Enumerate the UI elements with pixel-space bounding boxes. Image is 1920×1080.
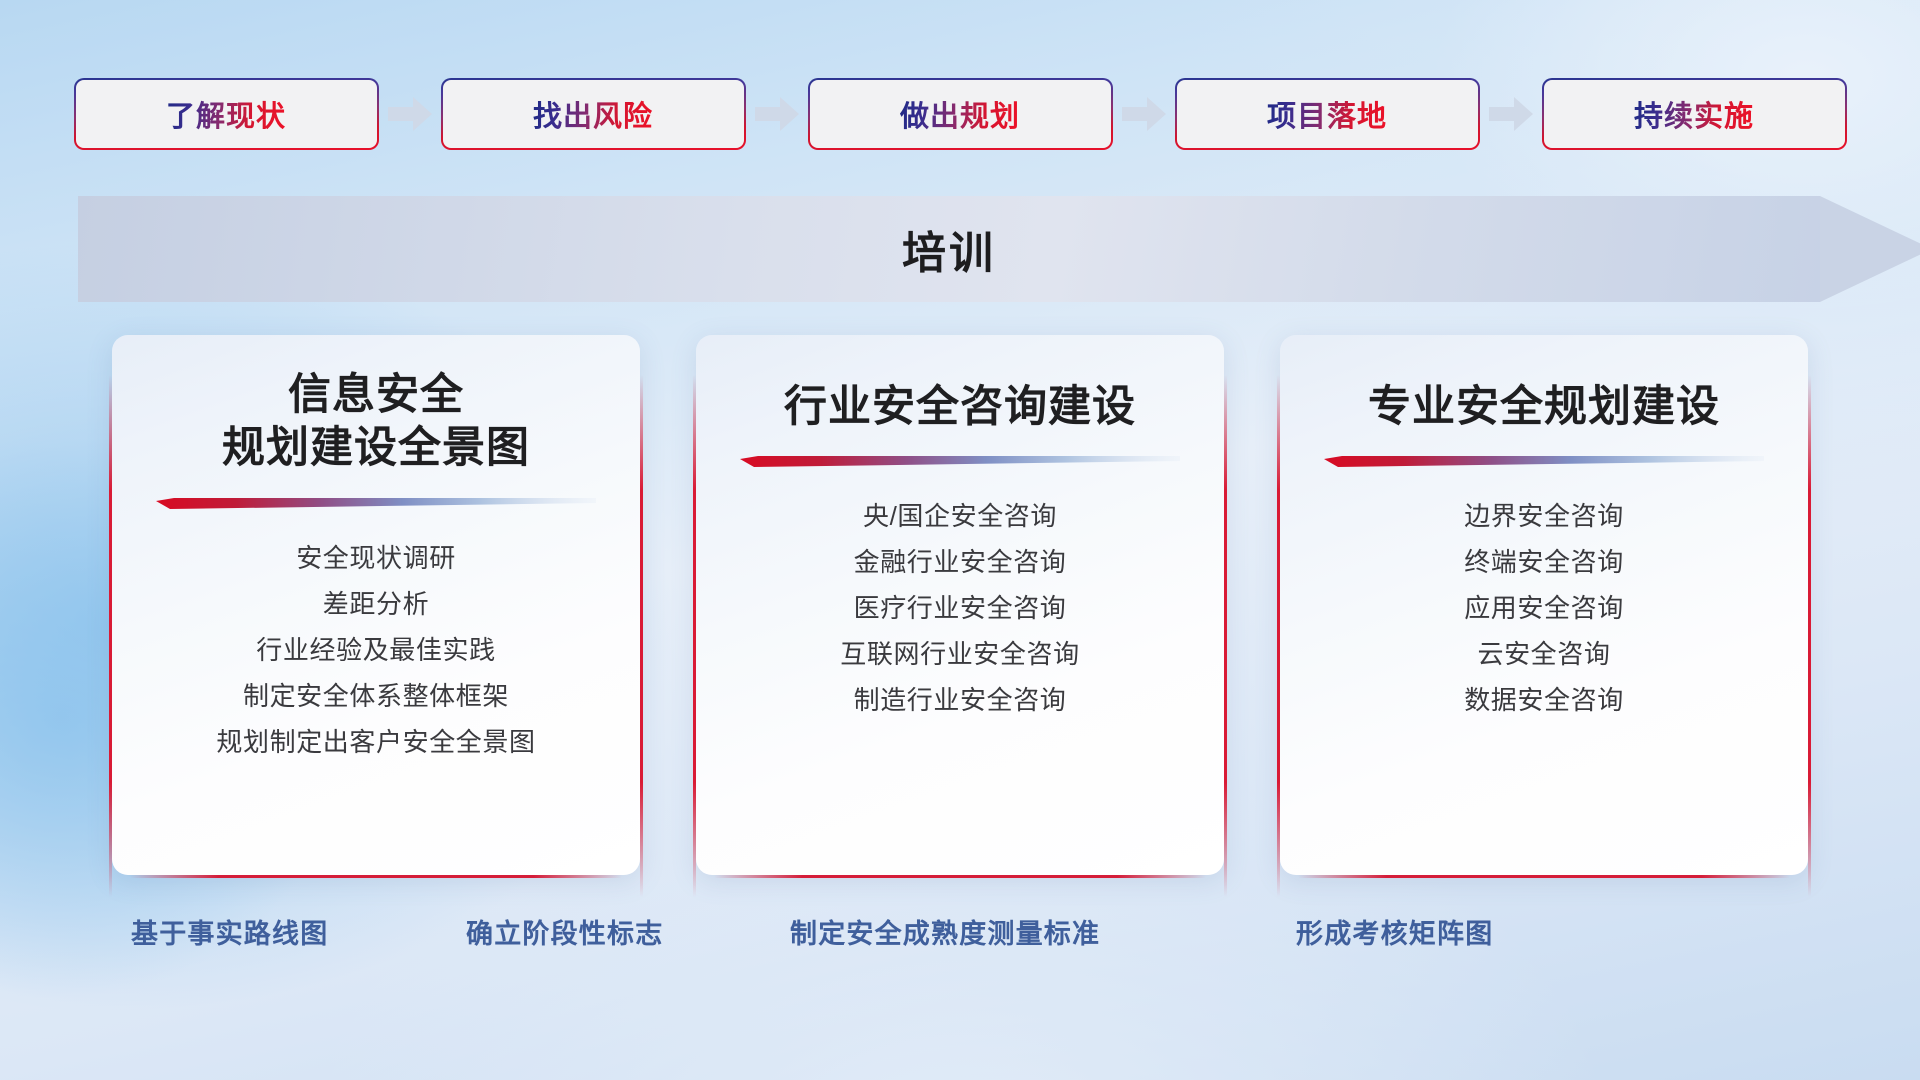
- list-item: 差距分析: [112, 581, 640, 627]
- list-item: 互联网行业安全咨询: [696, 631, 1224, 677]
- list-item: 医疗行业安全咨询: [696, 585, 1224, 631]
- card-title-line: 规划建设全景图: [222, 422, 530, 475]
- right-arrow-icon: [379, 78, 441, 150]
- step-chip-1[interactable]: 了解现状: [74, 78, 379, 150]
- caption-label: 形成考核矩阵图: [1296, 912, 1493, 951]
- card-industry-security-consulting[interactable]: 行业安全咨询建设: [696, 335, 1224, 875]
- card-accent-right: [1224, 375, 1227, 897]
- list-item: 终端安全咨询: [1280, 539, 1808, 585]
- list-item: 安全现状调研: [112, 535, 640, 581]
- list-item: 应用安全咨询: [1280, 585, 1808, 631]
- step-chip-2[interactable]: 找出风险: [441, 78, 746, 150]
- list-item: 规划制定出客户安全全景图: [112, 719, 640, 765]
- card-item-list: 边界安全咨询 终端安全咨询 应用安全咨询 云安全咨询 数据安全咨询: [1280, 493, 1808, 723]
- list-item: 边界安全咨询: [1280, 493, 1808, 539]
- step-chip-4[interactable]: 项目落地: [1175, 78, 1480, 150]
- card-divider-icon: [156, 498, 596, 509]
- card-info-security-panorama[interactable]: 信息安全 规划建设全景图: [112, 335, 640, 875]
- list-item: 央/国企安全咨询: [696, 493, 1224, 539]
- card-accent-right: [1808, 375, 1811, 897]
- caption-label: 基于事实路线图: [131, 912, 328, 951]
- step-chip-5[interactable]: 持续实施: [1542, 78, 1847, 150]
- list-item: 数据安全咨询: [1280, 677, 1808, 723]
- card-divider-icon: [740, 456, 1180, 467]
- banner-arrow-tip-icon: [1820, 196, 1920, 302]
- card-accent-right: [640, 375, 643, 897]
- right-arrow-icon: [746, 78, 808, 150]
- caption-label: 制定安全成熟度测量标准: [790, 912, 1100, 951]
- step-chip-label: 持续实施: [1634, 93, 1754, 135]
- step-chip-3[interactable]: 做出规划: [808, 78, 1113, 150]
- list-item: 制定安全体系整体框架: [112, 673, 640, 719]
- card-accent-bottom: [714, 875, 1206, 878]
- card-title-line: 专业安全规划建设: [1368, 381, 1720, 434]
- step-chip-label: 做出规划: [900, 93, 1020, 135]
- card-title-line: 信息安全: [222, 369, 530, 422]
- list-item: 金融行业安全咨询: [696, 539, 1224, 585]
- card-title: 专业安全规划建设: [1346, 381, 1742, 434]
- card-row: 信息安全 规划建设全景图: [0, 335, 1920, 875]
- card-professional-security-planning[interactable]: 专业安全规划建设: [1280, 335, 1808, 875]
- card-title: 信息安全 规划建设全景图: [200, 369, 552, 476]
- card-accent-bottom: [130, 875, 622, 878]
- right-arrow-icon: [1480, 78, 1542, 150]
- card-accent-bottom: [1298, 875, 1790, 878]
- training-banner: 培训: [78, 196, 1868, 302]
- caption-row: 基于事实路线图 确立阶段性标志 制定安全成熟度测量标准 形成考核矩阵图: [0, 912, 1920, 958]
- slide-canvas: 了解现状 找出风险 做出规划 项目落地: [0, 0, 1920, 1080]
- caption-label: 确立阶段性标志: [466, 912, 663, 951]
- card-title-line: 行业安全咨询建设: [784, 381, 1136, 434]
- banner-title: 培训: [78, 196, 1820, 302]
- step-chip-label: 找出风险: [533, 93, 653, 135]
- list-item: 制造行业安全咨询: [696, 677, 1224, 723]
- card-divider-icon: [1324, 456, 1764, 467]
- process-step-row: 了解现状 找出风险 做出规划 项目落地: [0, 78, 1920, 150]
- list-item: 云安全咨询: [1280, 631, 1808, 677]
- card-item-list: 央/国企安全咨询 金融行业安全咨询 医疗行业安全咨询 互联网行业安全咨询 制造行…: [696, 493, 1224, 723]
- card-item-list: 安全现状调研 差距分析 行业经验及最佳实践 制定安全体系整体框架 规划制定出客户…: [112, 535, 640, 765]
- right-arrow-icon: [1113, 78, 1175, 150]
- card-title: 行业安全咨询建设: [762, 381, 1158, 434]
- step-chip-label: 了解现状: [166, 93, 286, 135]
- list-item: 行业经验及最佳实践: [112, 627, 640, 673]
- step-chip-label: 项目落地: [1267, 93, 1387, 135]
